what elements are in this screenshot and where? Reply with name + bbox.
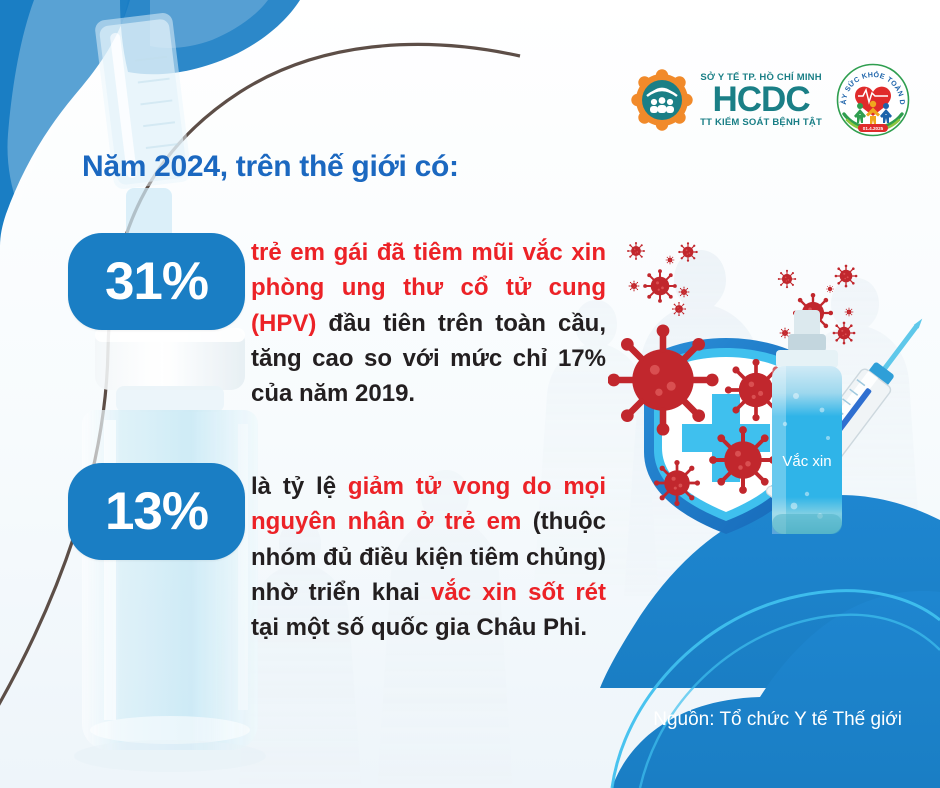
bottle-label: Vắc xin <box>782 453 831 470</box>
blob-top-left-small <box>120 0 300 74</box>
cyan-arc-line <box>612 591 940 788</box>
health-day-date-badge: 01.4.2025 <box>863 126 884 131</box>
blob-bottom-right-main <box>612 591 940 788</box>
hcdc-wordmark: SỞ Y TẾ TP. HỒ CHÍ MINH HCDC TT KIỂM SOÁ… <box>700 73 822 127</box>
hcdc-bottom-line: TT KIỂM SOÁT BỆNH TẬT <box>700 118 822 128</box>
illustration-svg: Vắc xin <box>608 238 940 560</box>
stat-text-2: là tỷ lệ giảm tử vong do mọi nguyên nhân… <box>251 469 606 645</box>
logo-group: SỞ Y TẾ TP. HỒ CHÍ MINH HCDC TT KIỂM SOÁ… <box>631 62 910 138</box>
national-health-day-icon: NGÀY SỨC KHỎE TOÀN DÂN 01.4.2025 <box>836 62 910 138</box>
stat-badge-1: 31% <box>68 233 245 330</box>
vaccine-bottle-icon <box>772 310 842 534</box>
stat-block-1: 31% trẻ em gái đã tiêm mũi vắc xin phòng… <box>68 233 606 411</box>
source-credit: Nguồn: Tổ chức Y tế Thế giới <box>653 709 902 731</box>
stat-badge-2: 13% <box>68 463 245 560</box>
stat-2-plain-1: là tỷ lệ <box>251 473 348 500</box>
cyan-arc-line-2 <box>640 615 940 788</box>
stat-block-2: 13% là tỷ lệ giảm tử vong do mọi nguyên … <box>68 463 606 645</box>
hcdc-emblem-icon <box>631 69 693 131</box>
stat-2-plain-3: tại một số quốc gia Châu Phi. <box>251 614 587 641</box>
blob-top-left-large <box>0 0 130 246</box>
vaccine-illustration: Vắc xin <box>608 238 940 560</box>
blob-top-left-highlight <box>150 0 268 48</box>
page-title: Năm 2024, trên thế giới có: <box>82 150 459 184</box>
infographic-poster: SỞ Y TẾ TP. HỒ CHÍ MINH HCDC TT KIỂM SOÁ… <box>0 0 940 788</box>
hcdc-logo: SỞ Y TẾ TP. HỒ CHÍ MINH HCDC TT KIỂM SOÁ… <box>631 69 822 131</box>
stat-2-highlight-2: vắc xin sốt rét <box>431 579 606 606</box>
stat-text-1: trẻ em gái đã tiêm mũi vắc xin phòng ung… <box>251 235 606 411</box>
hcdc-acronym: HCDC <box>713 83 810 116</box>
